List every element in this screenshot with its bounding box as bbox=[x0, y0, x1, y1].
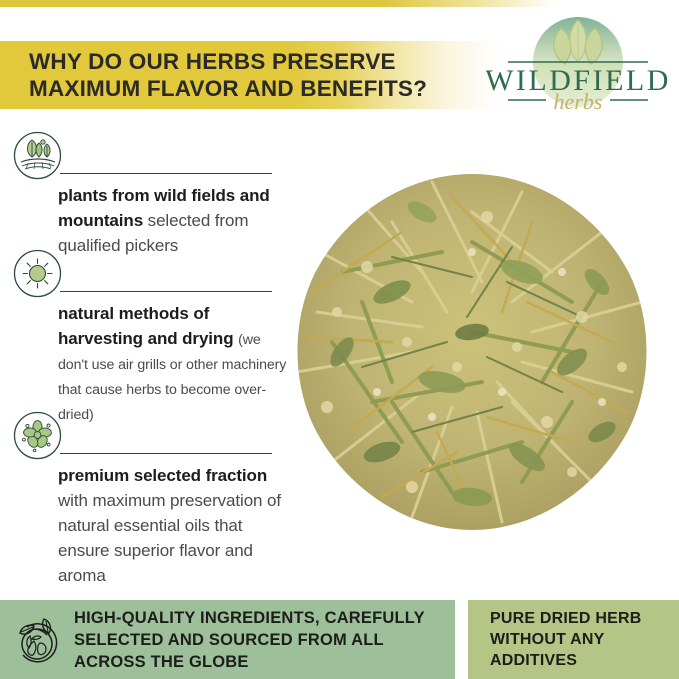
banner-high-quality-ingredients: HIGH-QUALITY INGREDIENTS, CAREFULLY SELE… bbox=[0, 600, 455, 679]
banner-text: HIGH-QUALITY INGREDIENTS, CAREFULLY SELE… bbox=[74, 607, 425, 673]
feature-text: natural methods of harvesting and drying… bbox=[58, 301, 288, 426]
feature-divider bbox=[60, 173, 272, 174]
field-plants-icon bbox=[13, 131, 62, 180]
top-accent-strip bbox=[0, 0, 679, 7]
banner-text: PURE DRIED HERB WITHOUT ANY ADDITIVES bbox=[490, 608, 641, 671]
feature-divider bbox=[60, 291, 272, 292]
sun-icon bbox=[13, 249, 62, 298]
feature-bold-text: natural methods of harvesting and drying bbox=[58, 304, 234, 348]
feature-regular-text: with maximum preservation of natural ess… bbox=[58, 491, 281, 585]
feature-text: premium selected fraction with maximum p… bbox=[58, 463, 288, 588]
globe-leaf-icon bbox=[10, 611, 68, 669]
brand-logo: WILDFIELD herbs bbox=[486, 14, 670, 118]
feature-bold-text: premium selected fraction bbox=[58, 466, 267, 485]
flower-icon bbox=[13, 411, 62, 460]
dried-herb-pile-image bbox=[272, 152, 672, 552]
product-infographic: WHY DO OUR HERBS PRESERVE MAXIMUM FLAVOR… bbox=[0, 0, 679, 679]
banner-pure-dried-herb: PURE DRIED HERB WITHOUT ANY ADDITIVES bbox=[468, 600, 679, 679]
page-title: WHY DO OUR HERBS PRESERVE MAXIMUM FLAVOR… bbox=[29, 48, 469, 102]
feature-text: plants from wild fields and mountains se… bbox=[58, 183, 288, 258]
feature-divider bbox=[60, 453, 272, 454]
logo-brand-script: herbs bbox=[554, 89, 603, 114]
